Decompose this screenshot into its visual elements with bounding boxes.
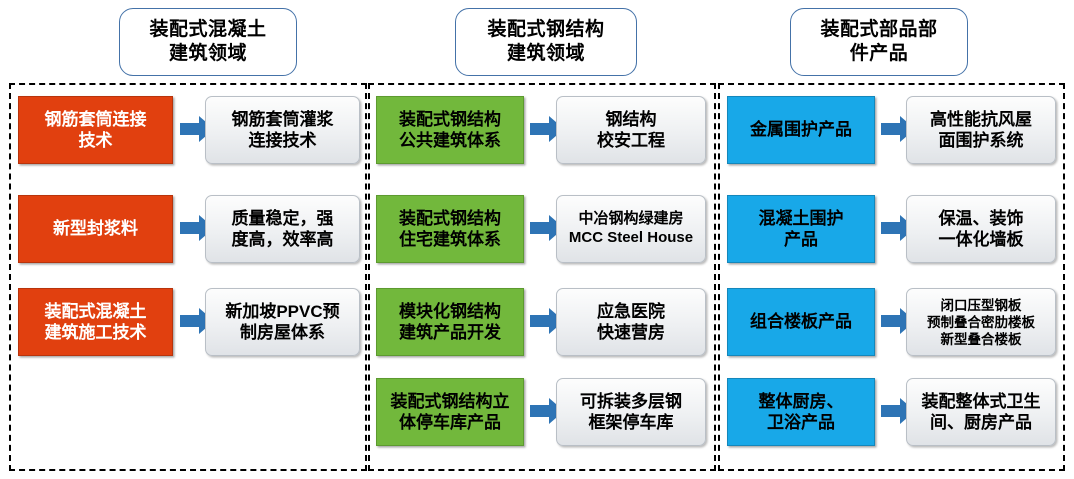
source-box-steel-3[interactable]: 模块化钢结构 建筑产品开发 — [376, 288, 524, 356]
box-line-1: 组合楼板产品 — [750, 312, 852, 331]
box-line-2: 一体化墙板 — [939, 230, 1024, 249]
box-line-2: 住宅建筑体系 — [399, 230, 501, 249]
box-line-1: 钢结构 — [606, 110, 657, 129]
box-line-1: 装配式钢结构 — [399, 110, 501, 129]
column-header-precast-concrete: 装配式混凝土 建筑领域 — [119, 8, 297, 76]
column-header-steel-structure: 装配式钢结构 建筑领域 — [455, 8, 637, 76]
target-box-steel-3[interactable]: 应急医院 快速营房 — [556, 288, 706, 356]
box-line-3: 新型叠合楼板 — [941, 332, 1022, 347]
box-line-2: 面围护系统 — [939, 131, 1024, 150]
target-box-steel-1[interactable]: 钢结构 校安工程 — [556, 96, 706, 164]
target-box-steel-4[interactable]: 可拆装多层钢 框架停车库 — [556, 378, 706, 446]
box-line-2: 体停车库产品 — [399, 413, 501, 432]
box-line-1: 应急医院 — [597, 302, 665, 321]
target-box-products-2[interactable]: 保温、装饰 一体化墙板 — [906, 195, 1056, 263]
header-line-2: 建筑领域 — [169, 43, 247, 64]
box-line-1: 装配式混凝土 — [45, 302, 147, 321]
target-box-products-1[interactable]: 高性能抗风屋 面围护系统 — [906, 96, 1056, 164]
source-box-products-4[interactable]: 整体厨房、 卫浴产品 — [727, 378, 875, 446]
header-line-1: 装配式混凝土 — [149, 19, 266, 40]
source-box-products-1[interactable]: 金属围护产品 — [727, 96, 875, 164]
box-line-1: 可拆装多层钢 — [580, 392, 682, 411]
source-box-precast-3[interactable]: 装配式混凝土 建筑施工技术 — [18, 288, 173, 356]
box-line-1: 闭口压型钢板 — [941, 298, 1022, 313]
box-line-2: 快速营房 — [597, 323, 665, 342]
box-line-1: 混凝土围护 — [759, 209, 844, 228]
box-line-1: 新型封浆料 — [53, 219, 138, 238]
box-line-1: 钢筋套筒灌浆 — [232, 110, 334, 129]
header-line-1: 装配式部品部 — [820, 19, 937, 40]
box-line-2: 校安工程 — [597, 131, 665, 150]
box-line-2: 预制叠合密肋楼板 — [927, 315, 1035, 330]
column-header-components-products: 装配式部品部 件产品 — [790, 8, 968, 76]
box-line-2: 建筑产品开发 — [399, 323, 501, 342]
box-line-2: 制房屋体系 — [240, 323, 325, 342]
target-box-precast-3[interactable]: 新加坡PPVC预 制房屋体系 — [205, 288, 360, 356]
box-line-2: 度高，效率高 — [232, 230, 334, 249]
box-line-1: 高性能抗风屋 — [930, 110, 1032, 129]
header-line-2: 建筑领域 — [507, 43, 585, 64]
box-line-1: 模块化钢结构 — [399, 302, 501, 321]
box-line-2: 连接技术 — [249, 131, 317, 150]
target-box-products-3[interactable]: 闭口压型钢板 预制叠合密肋楼板 新型叠合楼板 — [906, 288, 1056, 356]
target-box-steel-2[interactable]: 中冶钢构绿建房 MCC Steel House — [556, 195, 706, 263]
source-box-precast-1[interactable]: 钢筋套筒连接 技术 — [18, 96, 173, 164]
header-line-2: 件产品 — [850, 43, 909, 64]
header-line-1: 装配式钢结构 — [487, 19, 604, 40]
box-line-2: 框架停车库 — [589, 413, 674, 432]
source-box-products-3[interactable]: 组合楼板产品 — [727, 288, 875, 356]
box-line-1: 保温、装饰 — [939, 209, 1024, 228]
source-box-steel-1[interactable]: 装配式钢结构 公共建筑体系 — [376, 96, 524, 164]
box-line-2: MCC Steel House — [569, 229, 693, 246]
box-line-2: 建筑施工技术 — [45, 323, 147, 342]
box-line-2: 间、厨房产品 — [930, 413, 1032, 432]
box-line-1: 钢筋套筒连接 — [45, 110, 147, 129]
box-line-1: 装配式钢结构立 — [391, 392, 510, 411]
target-box-precast-2[interactable]: 质量稳定，强 度高，效率高 — [205, 195, 360, 263]
box-line-1: 装配整体式卫生 — [922, 392, 1041, 411]
box-line-1: 新加坡PPVC预 — [225, 302, 339, 321]
box-line-1: 中冶钢构绿建房 — [578, 210, 683, 227]
box-line-2: 产品 — [784, 230, 818, 249]
box-line-2: 技术 — [79, 131, 113, 150]
source-box-steel-4[interactable]: 装配式钢结构立 体停车库产品 — [376, 378, 524, 446]
source-box-steel-2[interactable]: 装配式钢结构 住宅建筑体系 — [376, 195, 524, 263]
box-line-2: 公共建筑体系 — [399, 131, 501, 150]
box-line-1: 质量稳定，强 — [232, 209, 334, 228]
target-box-products-4[interactable]: 装配整体式卫生 间、厨房产品 — [906, 378, 1056, 446]
box-line-1: 金属围护产品 — [750, 120, 852, 139]
source-box-products-2[interactable]: 混凝土围护 产品 — [727, 195, 875, 263]
box-line-2: 卫浴产品 — [767, 413, 835, 432]
box-line-1: 装配式钢结构 — [399, 209, 501, 228]
diagram-canvas: 装配式混凝土 建筑领域 装配式钢结构 建筑领域 装配式部品部 件产品 钢筋套筒连… — [0, 0, 1074, 479]
source-box-precast-2[interactable]: 新型封浆料 — [18, 195, 173, 263]
target-box-precast-1[interactable]: 钢筋套筒灌浆 连接技术 — [205, 96, 360, 164]
box-line-1: 整体厨房、 — [759, 392, 844, 411]
